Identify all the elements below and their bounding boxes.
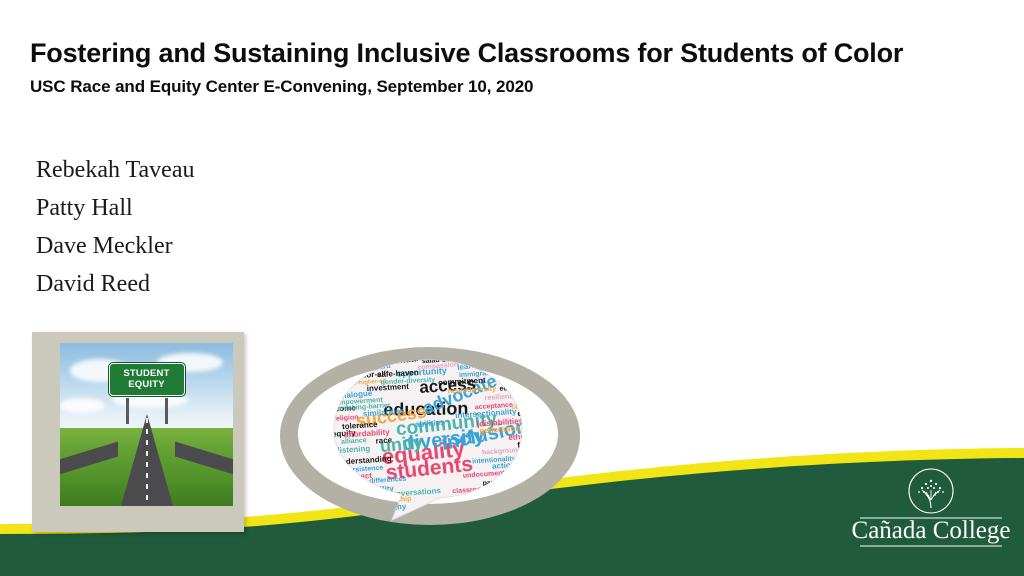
page-title: Fostering and Sustaining Inclusive Class… bbox=[30, 38, 990, 68]
cloud-shape bbox=[60, 398, 105, 413]
word-cloud-graphic: equalitystudentsdiversityinclusioncommun… bbox=[272, 342, 584, 530]
sign-posts bbox=[116, 398, 178, 424]
list-item: Dave Meckler bbox=[36, 228, 194, 266]
presenter-list: Rebekah Taveau Patty Hall Dave Meckler D… bbox=[36, 152, 194, 304]
word-cloud-word: race bbox=[375, 435, 393, 445]
list-item: Rebekah Taveau bbox=[36, 152, 194, 190]
page-subtitle: USC Race and Equity Center E-Convening, … bbox=[30, 77, 990, 97]
sign-line-2: EQUITY bbox=[110, 379, 184, 390]
tree-in-circle-icon bbox=[909, 469, 953, 513]
list-item: David Reed bbox=[36, 266, 194, 304]
canada-college-logo: Cañada College bbox=[852, 464, 1010, 552]
title-block: Fostering and Sustaining Inclusive Class… bbox=[30, 38, 990, 97]
student-equity-sign: STUDENT EQUITY bbox=[109, 363, 185, 396]
list-item: Patty Hall bbox=[36, 190, 194, 228]
student-equity-photo: STUDENT EQUITY bbox=[60, 343, 233, 506]
sign-line-1: STUDENT bbox=[110, 368, 184, 379]
logo-wordmark: Cañada College bbox=[852, 517, 1010, 544]
road-dashes bbox=[146, 418, 148, 504]
student-equity-photo-frame: STUDENT EQUITY bbox=[32, 332, 244, 532]
presentation-slide: Fostering and Sustaining Inclusive Class… bbox=[0, 0, 1024, 576]
word-cloud-svg: equalitystudentsdiversityinclusioncommun… bbox=[272, 342, 584, 530]
